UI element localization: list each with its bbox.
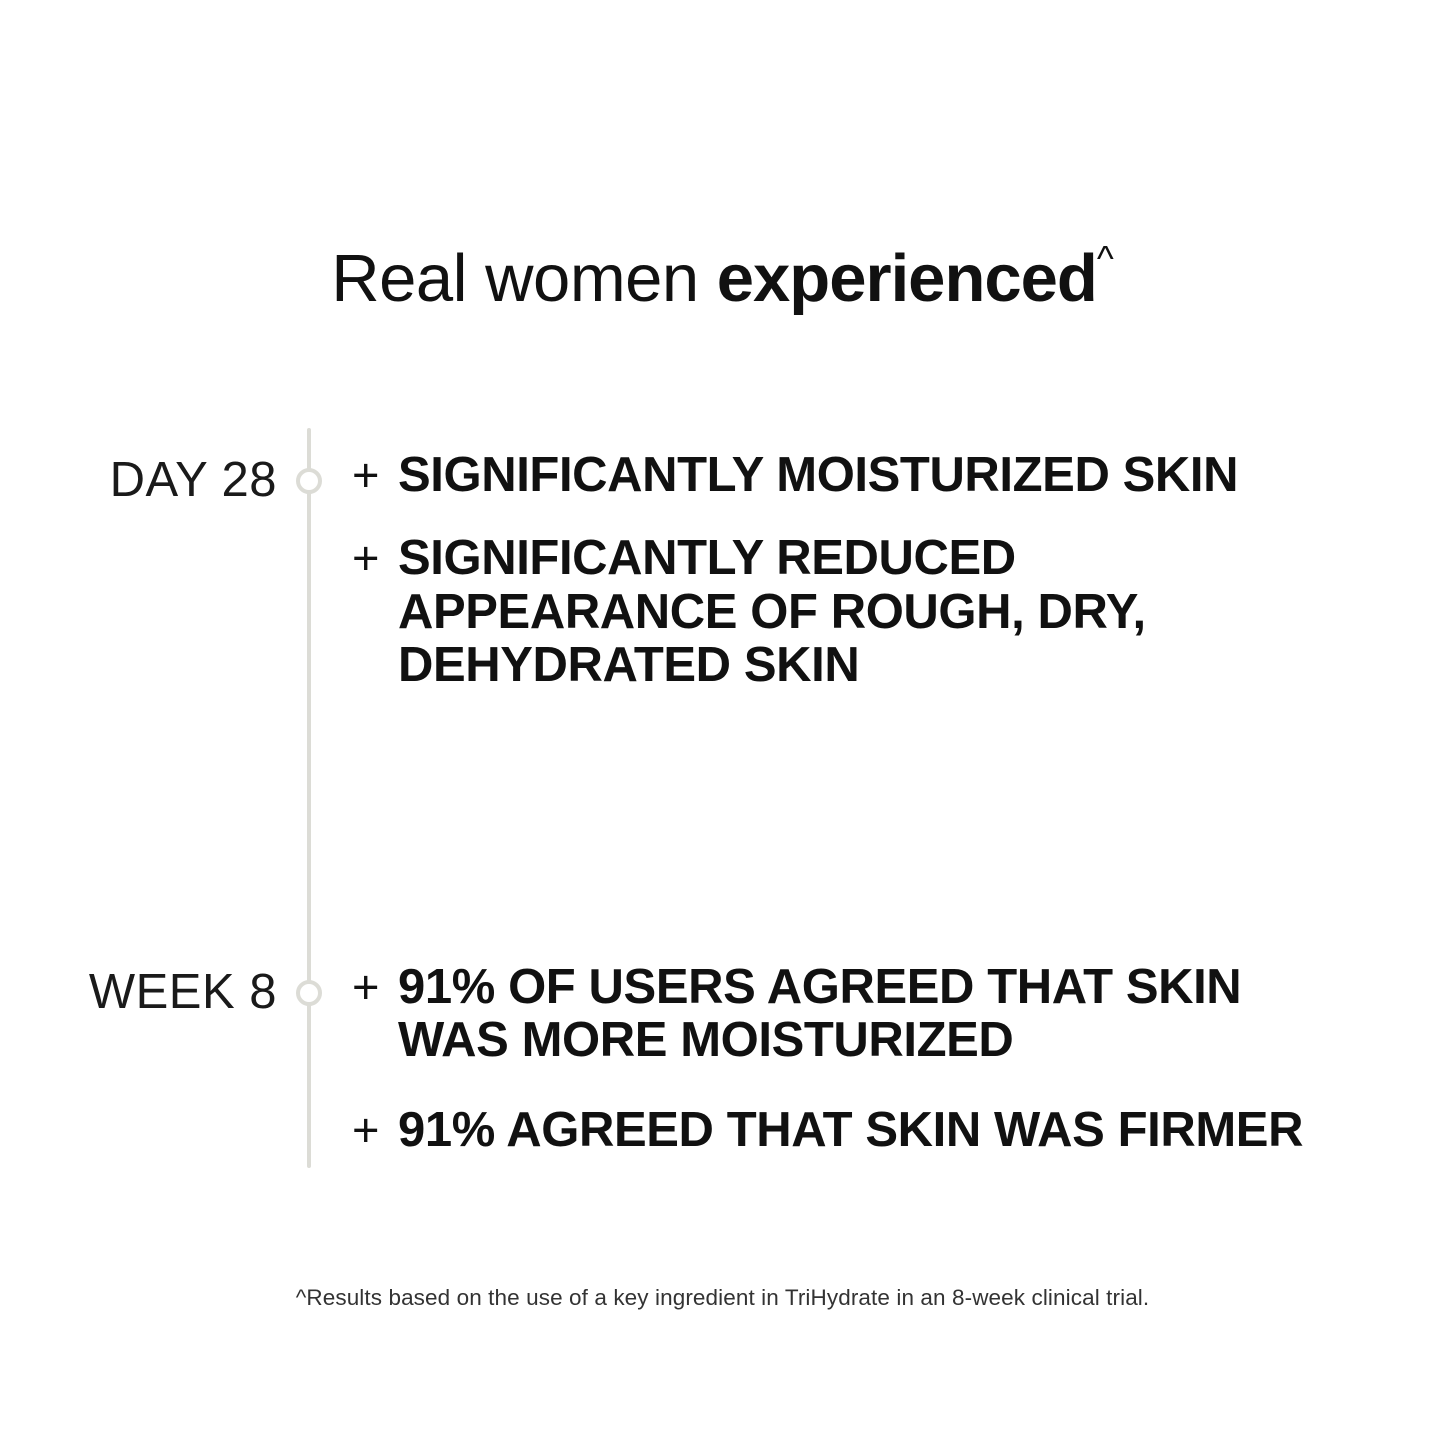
timeline-axis <box>307 428 311 1168</box>
claim-text: 91% OF USERS AGREED THAT SKIN WAS MORE M… <box>398 960 1241 1067</box>
timeline-period-label-week-8: WEEK 8 <box>89 964 277 1020</box>
claim-text: SIGNIFICANTLY MOISTURIZED SKIN <box>398 448 1238 502</box>
plus-icon: + <box>352 961 379 1012</box>
claim-item: + 91% OF USERS AGREED THAT SKIN WAS MORE… <box>352 961 1362 1068</box>
claim-text: SIGNIFICANTLY REDUCED APPEARANCE OF ROUG… <box>398 531 1146 692</box>
page-title-light-text: Real women <box>331 241 717 316</box>
page-title: Real women experienced^ <box>0 241 1445 312</box>
claim-text: 91% AGREED THAT SKIN WAS FIRMER <box>398 1103 1303 1157</box>
plus-icon: + <box>352 449 379 500</box>
claim-item: + SIGNIFICANTLY REDUCED APPEARANCE OF RO… <box>352 532 1362 692</box>
claim-item: + 91% AGREED THAT SKIN WAS FIRMER <box>352 1104 1362 1157</box>
claims-group-day-28: + SIGNIFICANTLY MOISTURIZED SKIN + SIGNI… <box>352 449 1362 693</box>
timeline-period-label-day-28: DAY 28 <box>110 452 277 508</box>
marketing-claims-page: Real women experienced^ DAY 28 + SIGNIFI… <box>0 0 1445 1445</box>
claims-group-week-8: + 91% OF USERS AGREED THAT SKIN WAS MORE… <box>352 961 1362 1193</box>
timeline-node-day-28 <box>296 468 322 494</box>
plus-icon: + <box>352 532 379 583</box>
footnote-text: ^Results based on the use of a key ingre… <box>0 1285 1445 1311</box>
page-title-bold-text: experienced <box>717 241 1097 316</box>
plus-icon: + <box>352 1104 379 1155</box>
timeline-node-week-8 <box>296 980 322 1006</box>
footnote-marker: ^ <box>1097 238 1114 279</box>
claim-item: + SIGNIFICANTLY MOISTURIZED SKIN <box>352 449 1362 502</box>
